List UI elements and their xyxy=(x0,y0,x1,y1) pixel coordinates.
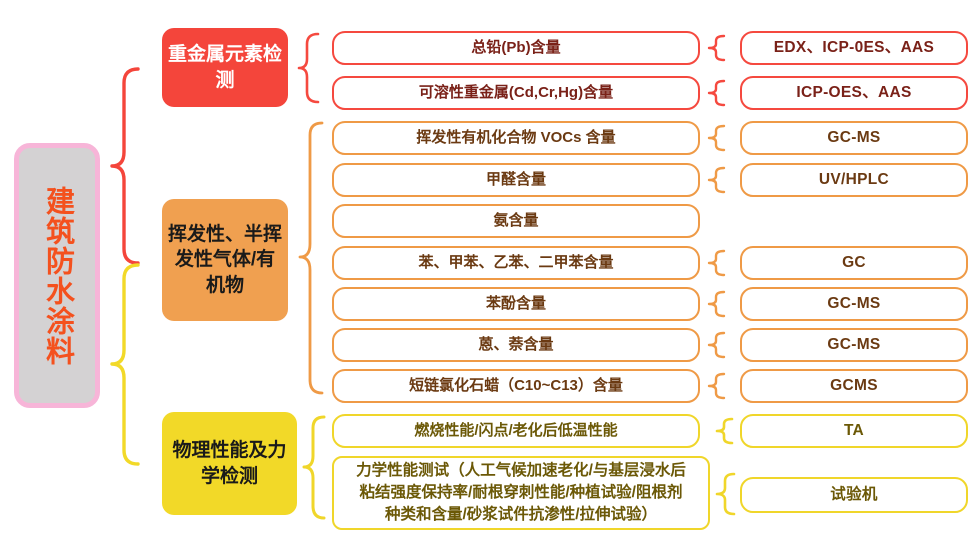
item-soluble-heavy-metals-label: 可溶性重金属(Cd,Cr,Hg)含量 xyxy=(419,83,613,103)
item-ammonia-label: 氨含量 xyxy=(493,211,538,231)
root-node: 建筑防水涂料 xyxy=(14,143,100,408)
brace-item-formaldehyde-method xyxy=(706,167,732,193)
category-physical-label: 物理性能及力学检测 xyxy=(168,438,291,488)
method-anthracene-naphthalene[interactable]: GC-MS xyxy=(740,328,968,362)
method-mechanical-performance[interactable]: 试验机 xyxy=(740,477,968,513)
method-vocs-label: GC-MS xyxy=(827,128,880,148)
item-anthracene-naphthalene-label: 蒽、萘含量 xyxy=(478,335,553,355)
method-soluble-heavy-metals-label: ICP-OES、AAS xyxy=(796,83,911,103)
method-combustion-flashpoint-lowtemp-label: TA xyxy=(844,421,864,441)
method-phenol[interactable]: GC-MS xyxy=(740,287,968,321)
method-formaldehyde-label: UV/HPLC xyxy=(819,170,889,190)
category-heavy-metal: 重金属元素检测 xyxy=(162,28,288,107)
item-combustion-flashpoint-lowtemp[interactable]: 燃烧性能/闪点/老化后低温性能 xyxy=(332,414,700,448)
item-combustion-flashpoint-lowtemp-label: 燃烧性能/闪点/老化后低温性能 xyxy=(414,421,617,441)
category-voc: 挥发性、半挥发性气体/有机物 xyxy=(162,199,288,321)
method-soluble-heavy-metals[interactable]: ICP-OES、AAS xyxy=(740,76,968,110)
brace-heavy-metal-items xyxy=(296,32,326,104)
item-soluble-heavy-metals[interactable]: 可溶性重金属(Cd,Cr,Hg)含量 xyxy=(332,76,700,110)
method-phenol-label: GC-MS xyxy=(827,294,880,314)
item-mechanical-performance-line-1: 力学性能测试（人工气候加速老化/与基层浸水后 xyxy=(356,460,686,482)
item-anthracene-naphthalene[interactable]: 蒽、萘含量 xyxy=(332,328,700,362)
brace-item-combustion-method xyxy=(714,418,740,444)
category-voc-label: 挥发性、半挥发性气体/有机物 xyxy=(168,222,282,297)
method-sccp-label: GCMS xyxy=(830,376,878,396)
item-mechanical-performance[interactable]: 力学性能测试（人工气候加速老化/与基层浸水后 粘结强度保持率/耐根穿刺性能/种植… xyxy=(332,456,710,530)
brace-item-sccp-method xyxy=(706,373,732,399)
item-ammonia[interactable]: 氨含量 xyxy=(332,204,700,238)
item-total-lead-label: 总铅(Pb)含量 xyxy=(471,38,560,58)
brace-root-to-physical xyxy=(108,262,142,467)
item-sccp-label: 短链氯化石蜡（C10~C13）含量 xyxy=(409,376,623,396)
brace-item-phenol-method xyxy=(706,291,732,317)
item-formaldehyde-label: 甲醛含量 xyxy=(486,170,546,190)
method-mechanical-performance-label: 试验机 xyxy=(830,485,877,505)
brace-item-soluble-heavy-metals-method xyxy=(706,80,732,106)
brace-root-to-heavy-metal xyxy=(108,66,142,266)
method-sccp[interactable]: GCMS xyxy=(740,369,968,403)
brace-voc-items xyxy=(296,120,330,396)
root-node-label: 建筑防水涂料 xyxy=(38,186,75,366)
item-mechanical-performance-line-3: 种类和含量/砂浆试件抗渗性/拉伸试验） xyxy=(385,504,657,526)
item-btex-label: 苯、甲苯、乙苯、二甲苯含量 xyxy=(418,253,613,273)
method-total-lead-label: EDX、ICP-0ES、AAS xyxy=(774,38,934,58)
brace-item-anthracene-naphthalene-method xyxy=(706,332,732,358)
item-btex[interactable]: 苯、甲苯、乙苯、二甲苯含量 xyxy=(332,246,700,280)
brace-item-vocs-method xyxy=(706,125,732,151)
item-vocs[interactable]: 挥发性有机化合物 VOCs 含量 xyxy=(332,121,700,155)
brace-physical-items xyxy=(300,414,332,522)
method-combustion-flashpoint-lowtemp[interactable]: TA xyxy=(740,414,968,448)
method-total-lead[interactable]: EDX、ICP-0ES、AAS xyxy=(740,31,968,65)
item-phenol[interactable]: 苯酚含量 xyxy=(332,287,700,321)
diagram-canvas: 建筑防水涂料 重金属元素检测 总铅(Pb)含量 可溶性重金属(Cd,Cr,Hg)… xyxy=(0,0,977,548)
item-phenol-label: 苯酚含量 xyxy=(486,294,546,314)
brace-item-total-lead-method xyxy=(706,35,732,61)
brace-item-btex-method xyxy=(706,250,732,276)
brace-item-mechanical-method xyxy=(714,472,742,516)
category-heavy-metal-label: 重金属元素检测 xyxy=(168,42,282,92)
item-mechanical-performance-line-2: 粘结强度保持率/耐根穿刺性能/种植试验/阻根剂 xyxy=(360,482,683,504)
method-btex-label: GC xyxy=(842,253,866,273)
method-anthracene-naphthalene-label: GC-MS xyxy=(827,335,880,355)
item-total-lead[interactable]: 总铅(Pb)含量 xyxy=(332,31,700,65)
item-vocs-label: 挥发性有机化合物 VOCs 含量 xyxy=(416,128,615,148)
method-vocs[interactable]: GC-MS xyxy=(740,121,968,155)
item-sccp[interactable]: 短链氯化石蜡（C10~C13）含量 xyxy=(332,369,700,403)
method-formaldehyde[interactable]: UV/HPLC xyxy=(740,163,968,197)
method-btex[interactable]: GC xyxy=(740,246,968,280)
item-formaldehyde[interactable]: 甲醛含量 xyxy=(332,163,700,197)
category-physical: 物理性能及力学检测 xyxy=(162,412,297,515)
